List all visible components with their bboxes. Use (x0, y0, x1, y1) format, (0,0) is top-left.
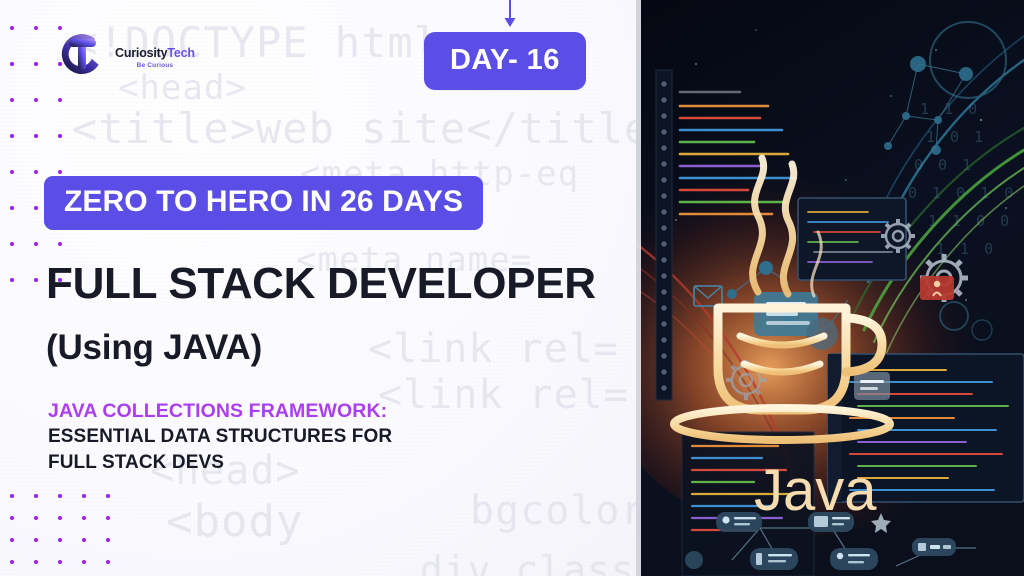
brand-name-secondary: Tech (167, 46, 194, 60)
java-artwork-panel: 1 1 0 1 0 1 0 0 1 0 1 0 1 0 1 1 0 0 1 1 … (636, 0, 1024, 576)
svg-text:1 0 1: 1 0 1 (926, 128, 986, 146)
course-duration-ribbon: ZERO TO HERO IN 26 DAYS (44, 176, 483, 230)
svg-text:1 1 0 0: 1 1 0 0 (928, 212, 1012, 230)
topic-block: JAVA COLLECTIONS FRAMEWORK: ESSENTIAL DA… (48, 398, 392, 475)
course-promo-poster: <!DOCTYPE html> <head> <title>web site</… (0, 0, 1024, 576)
network-node-card-1 (716, 512, 762, 532)
network-node-card-5 (912, 538, 956, 556)
watermark-link-rel-2: <link rel= (378, 372, 629, 418)
watermark-body: <body (166, 496, 303, 547)
brand-name-primary: Curiosity (115, 46, 167, 60)
code-window-icon-small (854, 372, 890, 400)
brand-logo[interactable]: CuriosityTech Be Curious (56, 28, 195, 80)
brand-tagline: Be Curious (115, 62, 195, 69)
arrow-down-icon (495, 0, 525, 30)
page-title: FULL STACK DEVELOPER (46, 262, 596, 306)
network-node-dot (685, 551, 703, 569)
decor-dots-bottom-left (10, 494, 130, 576)
alert-badge-icon (920, 276, 954, 300)
topic-line-2: ESSENTIAL DATA STRUCTURES FOR (48, 424, 392, 449)
watermark-title: <title>web site</title> (72, 104, 636, 153)
network-node-card-2 (808, 512, 854, 532)
topic-accent-line: JAVA COLLECTIONS FRAMEWORK: (48, 398, 392, 424)
left-content-panel: <!DOCTYPE html> <head> <title>web site</… (0, 0, 636, 576)
network-node-card-4 (830, 548, 878, 570)
java-hero-illustration: 1 1 0 1 0 1 0 0 1 0 1 0 1 0 1 1 0 0 1 1 … (636, 0, 1024, 576)
svg-text:0 1 0 1 0: 0 1 0 1 0 (908, 184, 1016, 202)
day-badge[interactable]: DAY- 16 (424, 32, 586, 90)
watermark-div-class: div class= (420, 548, 636, 576)
watermark-link-rel-1: <link rel= (368, 326, 619, 372)
network-node-card-3 (750, 548, 798, 570)
watermark-bgcolor: bgcolor=" (470, 488, 636, 534)
curiosity-tech-c-t-logo-icon (56, 28, 108, 80)
svg-text:1 1 0: 1 1 0 (920, 100, 980, 118)
page-subtitle: (Using JAVA) (46, 330, 262, 365)
brand-logo-text: CuriosityTech Be Curious (115, 39, 195, 70)
topic-line-3: FULL STACK DEVS (48, 450, 392, 475)
